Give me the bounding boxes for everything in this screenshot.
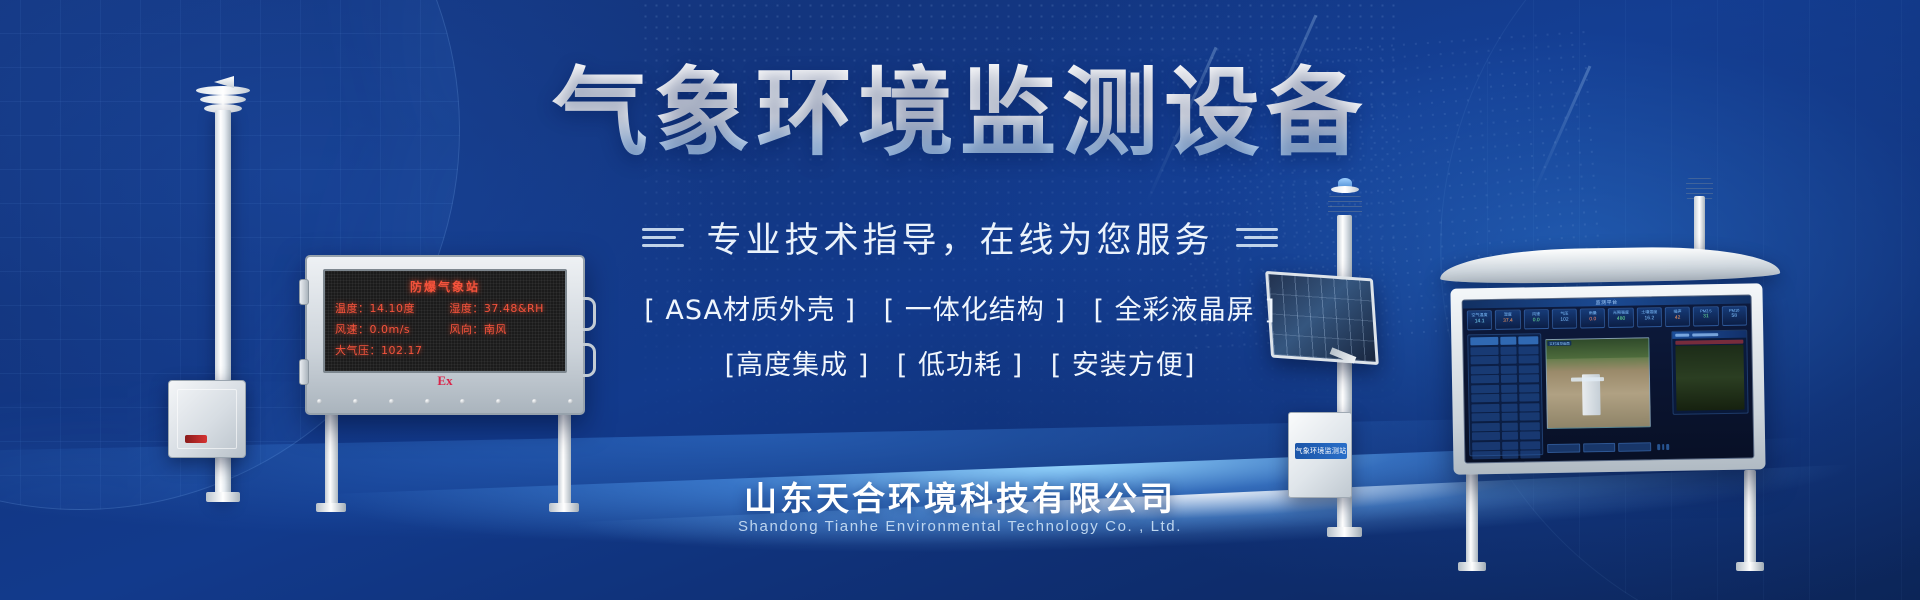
- banner-text-content: 气象环境监测设备 专业技术指导，在线为您服务 [ ASA材质外壳 ] [ 一体化…: [0, 0, 1920, 600]
- subtitle: 专业技术指导，在线为您服务: [706, 212, 1213, 263]
- feature-tag: [高度集成 ]: [725, 350, 870, 381]
- feature-tag: [ 安装方便]: [1051, 350, 1196, 381]
- feature-tag: [ 全彩液晶屏 ]: [1094, 295, 1276, 326]
- decorative-lines-right-icon: [1236, 228, 1278, 247]
- decorative-lines-left-icon: [642, 228, 684, 247]
- subtitle-row: 专业技术指导，在线为您服务: [0, 212, 1920, 263]
- company-name-en: Shandong Tianhe Environmental Technology…: [0, 518, 1920, 535]
- feature-tag: [ 一体化结构 ]: [884, 295, 1066, 326]
- feature-tag: [ 低功耗 ]: [897, 350, 1023, 381]
- page-title: 气象环境监测设备: [0, 62, 1920, 166]
- feature-tag: [ ASA材质外壳 ]: [644, 295, 856, 326]
- feature-tag-row-2: [高度集成 ] [ 低功耗 ] [ 安装方便]: [0, 343, 1920, 382]
- feature-tag-row-1: [ ASA材质外壳 ] [ 一体化结构 ] [ 全彩液晶屏 ]: [0, 288, 1920, 327]
- company-name-cn: 山东天合环境科技有限公司: [0, 472, 1920, 520]
- banner-root: 防爆气象站 温度：14.10度 湿度：37.48&RH 风速：0.0m/s 风向…: [0, 0, 1920, 600]
